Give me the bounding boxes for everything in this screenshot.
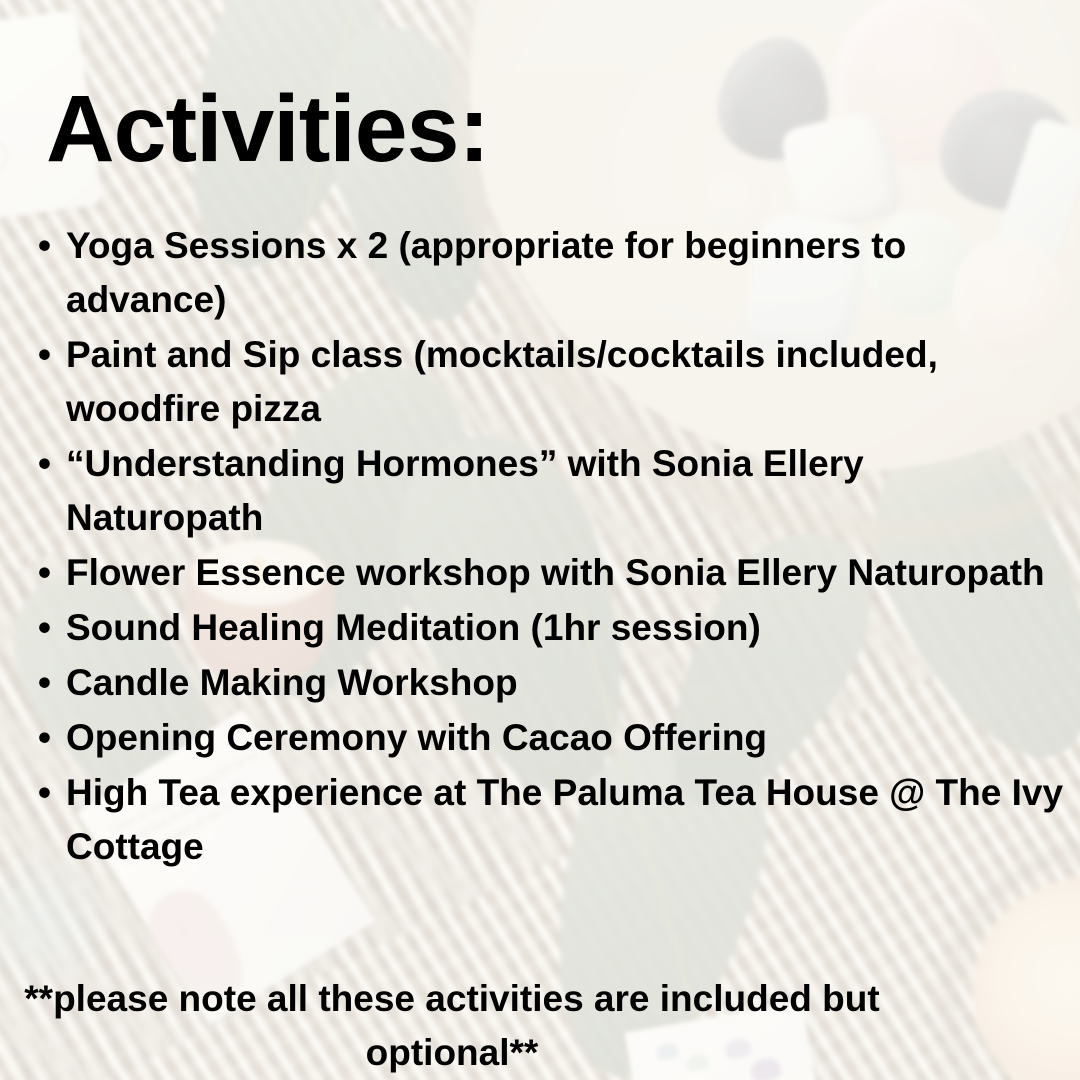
- list-item: • Yoga Sessions x 2 (appropriate for beg…: [30, 219, 1070, 327]
- list-item: • Opening Ceremony with Cacao Offering: [30, 711, 1070, 765]
- list-item-label: Paint and Sip class (mocktails/cocktails…: [66, 334, 938, 429]
- bullet-icon: •: [38, 766, 51, 820]
- poster-content: Activities: • Yoga Sessions x 2 (appropr…: [0, 0, 1080, 1080]
- bullet-icon: •: [38, 219, 51, 273]
- bullet-icon: •: [38, 546, 51, 600]
- list-item-label: Sound Healing Meditation (1hr session): [66, 607, 761, 648]
- activities-poster: There is only one thing for us to do and…: [0, 0, 1080, 1080]
- list-item-label: “Understanding Hormones” with Sonia Elle…: [66, 443, 864, 538]
- bullet-icon: •: [38, 711, 51, 765]
- list-item-label: Flower Essence workshop with Sonia Eller…: [66, 552, 1045, 593]
- list-item: • Paint and Sip class (mocktails/cocktai…: [30, 328, 1070, 436]
- bullet-icon: •: [38, 656, 51, 710]
- optional-note: **please note all these activities are i…: [0, 972, 908, 1080]
- list-item: • Flower Essence workshop with Sonia Ell…: [30, 546, 1070, 600]
- bullet-icon: •: [38, 328, 51, 382]
- list-item-label: Candle Making Workshop: [66, 662, 518, 703]
- page-title: Activities:: [46, 82, 489, 177]
- list-item-label: High Tea experience at The Paluma Tea Ho…: [66, 772, 1063, 867]
- bullet-icon: •: [38, 437, 51, 491]
- list-item: • “Understanding Hormones” with Sonia El…: [30, 437, 1070, 545]
- bullet-icon: •: [38, 601, 51, 655]
- list-item: • High Tea experience at The Paluma Tea …: [30, 766, 1070, 874]
- list-item-label: Opening Ceremony with Cacao Offering: [66, 717, 767, 758]
- list-item-label: Yoga Sessions x 2 (appropriate for begin…: [66, 225, 906, 320]
- activities-list: • Yoga Sessions x 2 (appropriate for beg…: [30, 219, 1070, 875]
- list-item: • Candle Making Workshop: [30, 656, 1070, 710]
- list-item: • Sound Healing Meditation (1hr session): [30, 601, 1070, 655]
